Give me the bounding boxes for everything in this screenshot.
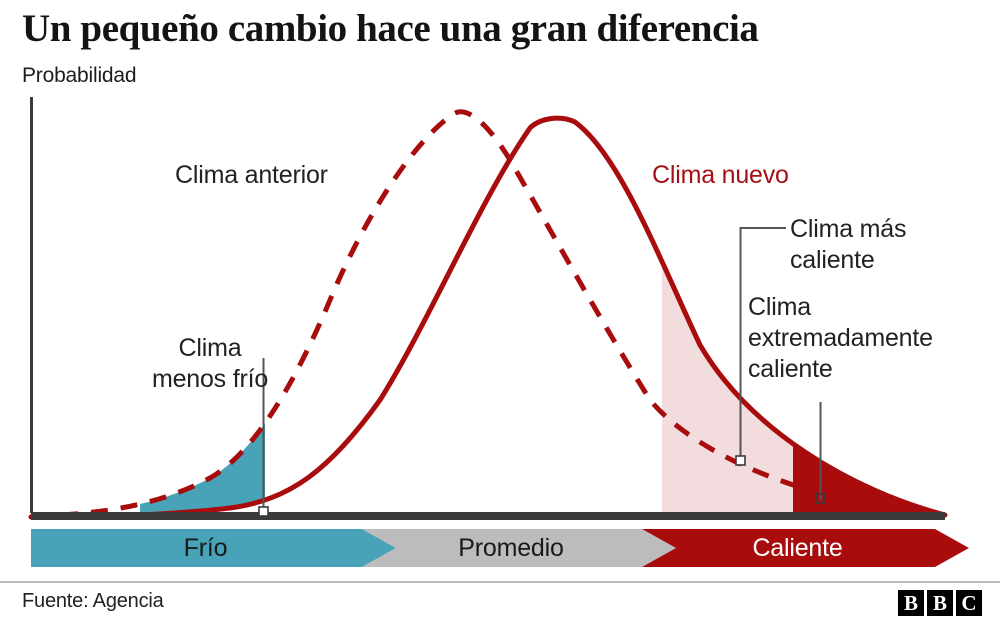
- band-hot-label: Caliente: [752, 534, 842, 563]
- annotation-hotter-line2: caliente: [790, 245, 990, 276]
- band-cold: Frío: [31, 529, 396, 567]
- annotation-new-climate: Clima nuevo: [652, 160, 789, 190]
- infographic-root: Un pequeño cambio hace una gran diferenc…: [0, 0, 1000, 620]
- footer-divider: [0, 581, 1000, 583]
- annotation-less-cold-line1: Clima: [115, 333, 305, 364]
- annotation-hotter: Clima más caliente: [790, 214, 990, 276]
- bbc-logo-letter-3: C: [956, 590, 982, 616]
- annotation-less-cold-line2: menos frío: [115, 364, 305, 395]
- annotation-less-cold: Clima menos frío: [115, 333, 305, 395]
- band-average: Promedio: [362, 529, 676, 567]
- annotation-extreme-line3: caliente: [748, 354, 996, 385]
- source-text: Fuente: Agencia: [22, 590, 164, 613]
- annotation-extreme: Clima extremadamente caliente: [748, 292, 996, 385]
- band-hot: Caliente: [642, 529, 969, 567]
- annotation-hotter-line1: Clima más: [790, 214, 990, 245]
- band-average-label: Promedio: [458, 534, 563, 563]
- temperature-band-row: Frío Promedio Caliente: [0, 529, 1000, 567]
- bbc-logo: B B C: [898, 590, 982, 616]
- annotation-previous-climate: Clima anterior: [175, 160, 328, 190]
- annotation-extreme-line1: Clima: [748, 292, 996, 323]
- x-axis-baseline: [31, 512, 945, 520]
- band-cold-label: Frío: [184, 534, 228, 563]
- annotation-extreme-line2: extremadamente: [748, 323, 996, 354]
- bbc-logo-letter-2: B: [927, 590, 953, 616]
- bbc-logo-letter-1: B: [898, 590, 924, 616]
